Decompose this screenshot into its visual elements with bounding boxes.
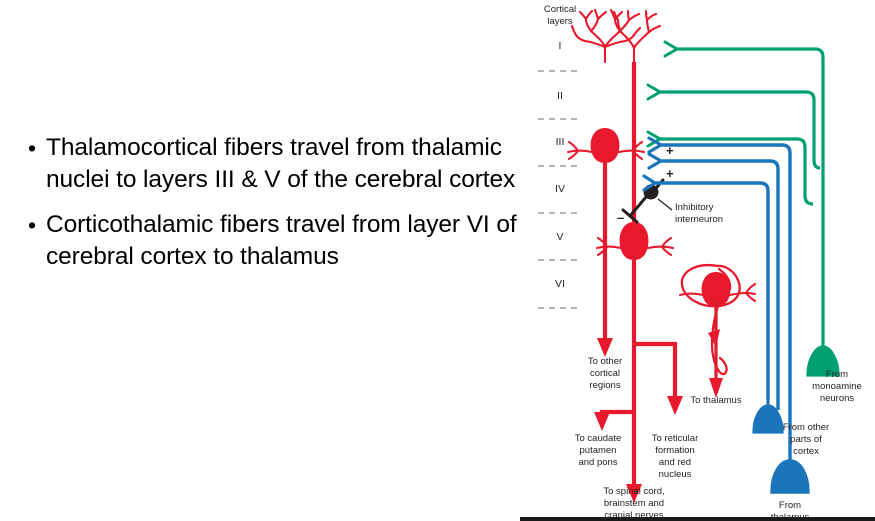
bullet-marker-icon: • (28, 209, 46, 241)
diagram-bottom-border (520, 517, 875, 521)
layer5-soma (620, 222, 649, 260)
label-from-monoamine-3: neurons (820, 393, 855, 404)
label-to-spinal-cord-2: brainstem and (604, 498, 664, 509)
arrow-to-other-cortical-regions (597, 338, 613, 357)
label-to-caudate-3: and pons (578, 457, 617, 468)
layer3-pyramidal-neuron (568, 10, 660, 357)
collateral-to-reticular (634, 344, 675, 404)
apical-dendrite-tuft (572, 10, 640, 62)
bullet-text: Thalamocortical fibers travel from thala… (46, 132, 518, 195)
bullet-text: Corticothalamic fibers travel from layer… (46, 209, 518, 272)
layer-label-I: I (559, 40, 562, 52)
interneuron-label-line1: Inhibitory (675, 202, 714, 213)
plus-sign-1: + (666, 143, 674, 158)
label-to-caudate-1: To caudate (575, 433, 621, 444)
layer-label-II: II (557, 90, 563, 102)
label-to-other-cortical-regions-1: To other (588, 356, 622, 367)
label-to-other-cortical-regions-3: regions (589, 380, 620, 391)
thalamus-afferent-terminal-bouton (772, 455, 808, 492)
cortical-circuit-diagram: Cortical layers I II III IV V VI (520, 0, 875, 521)
layer-label-V: V (556, 231, 563, 243)
label-to-thalamus: To thalamus (690, 395, 741, 406)
layer-label-VI: VI (555, 278, 565, 290)
interneuron-label-line2: interneuron (675, 214, 723, 225)
annotation-leader-line (658, 199, 672, 210)
label-from-thalamus-1: From (779, 500, 801, 511)
label-from-other-cortex-1: From other (783, 422, 829, 433)
label-from-monoamine-2: monoamine (812, 381, 862, 392)
label-to-reticular-4: nucleus (659, 469, 692, 480)
label-to-caudate-2: putamen (580, 445, 617, 456)
monoamine-afferent-fibers (660, 49, 823, 340)
list-item: • Thalamocortical fibers travel from tha… (28, 132, 518, 195)
apical-dendrite-tuft-2 (614, 11, 660, 62)
bullet-list: • Thalamocortical fibers travel from tha… (28, 132, 518, 286)
label-to-reticular-2: formation (655, 445, 695, 456)
minus-sign-label: – (617, 210, 624, 225)
layer-label-III: III (556, 136, 565, 148)
plus-sign-2: + (666, 166, 674, 181)
label-to-spinal-cord-1: To spinal cord, (603, 486, 664, 497)
label-from-other-cortex-2: parts of (790, 434, 822, 445)
diagram-header-line1: Cortical (544, 4, 576, 15)
layer3-soma (591, 128, 620, 163)
interneuron-processes (623, 180, 663, 222)
slide-canvas: • Thalamocortical fibers travel from tha… (0, 0, 875, 521)
input-labels: From thalamus From other parts of cortex… (771, 369, 862, 521)
green-fiber-terminals (648, 42, 677, 146)
list-item: • Corticothalamic fibers travel from lay… (28, 209, 518, 272)
label-to-other-cortical-regions-2: cortical (590, 368, 620, 379)
bullet-marker-icon: • (28, 132, 46, 164)
layer-label-IV: IV (555, 183, 565, 195)
arrow-to-reticular-formation (667, 396, 683, 415)
arrow-to-caudate-putamen (594, 412, 610, 431)
label-from-other-cortex-3: cortex (793, 446, 819, 457)
label-from-monoamine-1: From (826, 369, 848, 380)
label-to-reticular-3: and red (659, 457, 691, 468)
label-to-reticular-1: To reticular (652, 433, 698, 444)
diagram-header-line2: layers (547, 16, 573, 27)
